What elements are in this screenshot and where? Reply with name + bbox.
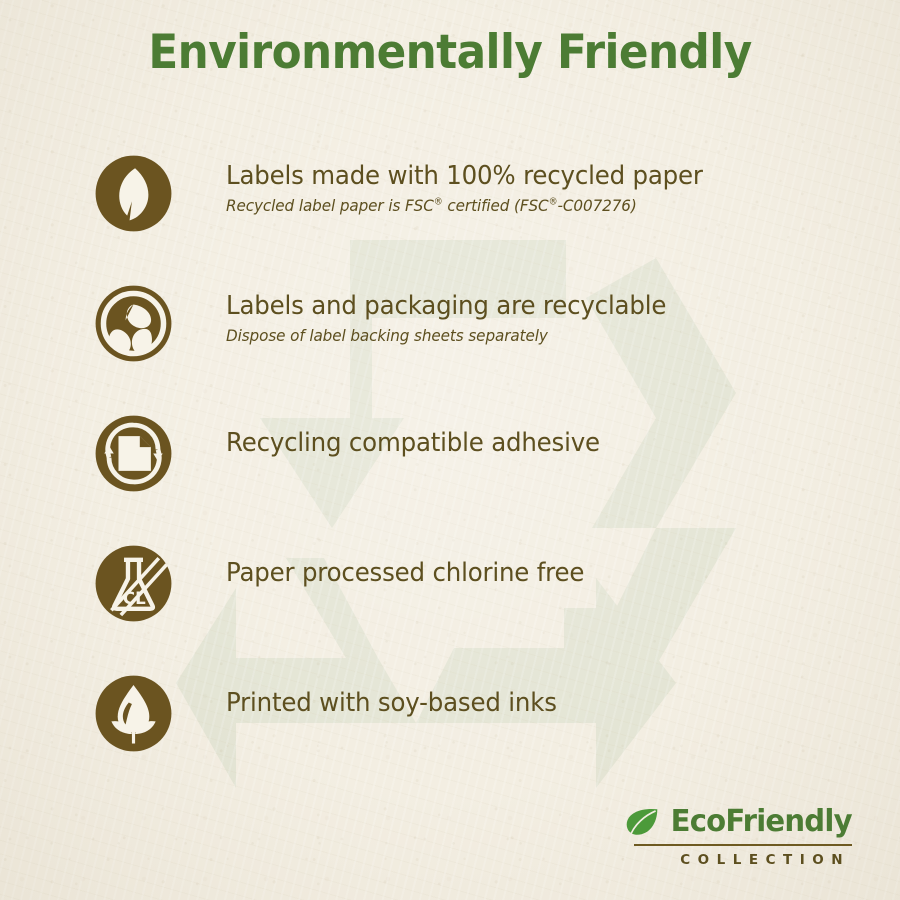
feature-subtitle: Dispose of label backing sheets separate… xyxy=(226,326,847,345)
feature-row-recycled-paper: Labels made with 100% recycled paper Rec… xyxy=(0,152,900,282)
feature-list: Labels made with 100% recycled paper Rec… xyxy=(0,152,900,802)
feature-title: Printed with soy-based inks xyxy=(226,689,854,717)
logo-top-row: EcoFriendly xyxy=(625,807,852,837)
feature-row-chlorine-free: CL Paper processed chlorine free xyxy=(0,542,900,672)
leaf-icon xyxy=(625,807,659,837)
feature-row-adhesive: Recycling compatible adhesive xyxy=(0,412,900,542)
feature-subtitle: Recycled label paper is FSC® certified (… xyxy=(226,196,847,215)
registered-mark-icon: ® xyxy=(434,197,443,208)
three-leaves-recycle-icon xyxy=(94,284,173,363)
logo-brand-text: EcoFriendly xyxy=(671,807,852,837)
eco-friendly-poster: Environmentally Friendly Labels made wit… xyxy=(0,0,900,900)
fsc-text-c: -C007276) xyxy=(558,196,637,215)
feature-title: Paper processed chlorine free xyxy=(226,559,854,587)
feature-title: Labels made with 100% recycled paper xyxy=(226,162,854,190)
leaf-in-circle-icon xyxy=(94,154,173,233)
feature-row-soy-inks: Printed with soy-based inks xyxy=(0,672,900,802)
document-recycle-loop-icon xyxy=(94,414,173,493)
no-chlorine-flask-icon: CL xyxy=(94,544,173,623)
registered-mark-icon-2: ® xyxy=(549,197,558,208)
logo-divider xyxy=(634,844,852,846)
feature-row-recyclable: Labels and packaging are recyclable Disp… xyxy=(0,282,900,412)
fsc-text-b: certified (FSC xyxy=(443,196,549,215)
feature-title: Recycling compatible adhesive xyxy=(226,429,854,457)
feature-title: Labels and packaging are recyclable xyxy=(226,292,854,320)
page-title: Environmentally Friendly xyxy=(32,25,869,80)
soy-droplet-plant-icon xyxy=(94,674,173,753)
fsc-text-a: Recycled label paper is FSC xyxy=(226,196,434,215)
logo-sub-text: COLLECTION xyxy=(625,852,852,868)
brand-logo: EcoFriendly COLLECTION xyxy=(625,807,852,868)
